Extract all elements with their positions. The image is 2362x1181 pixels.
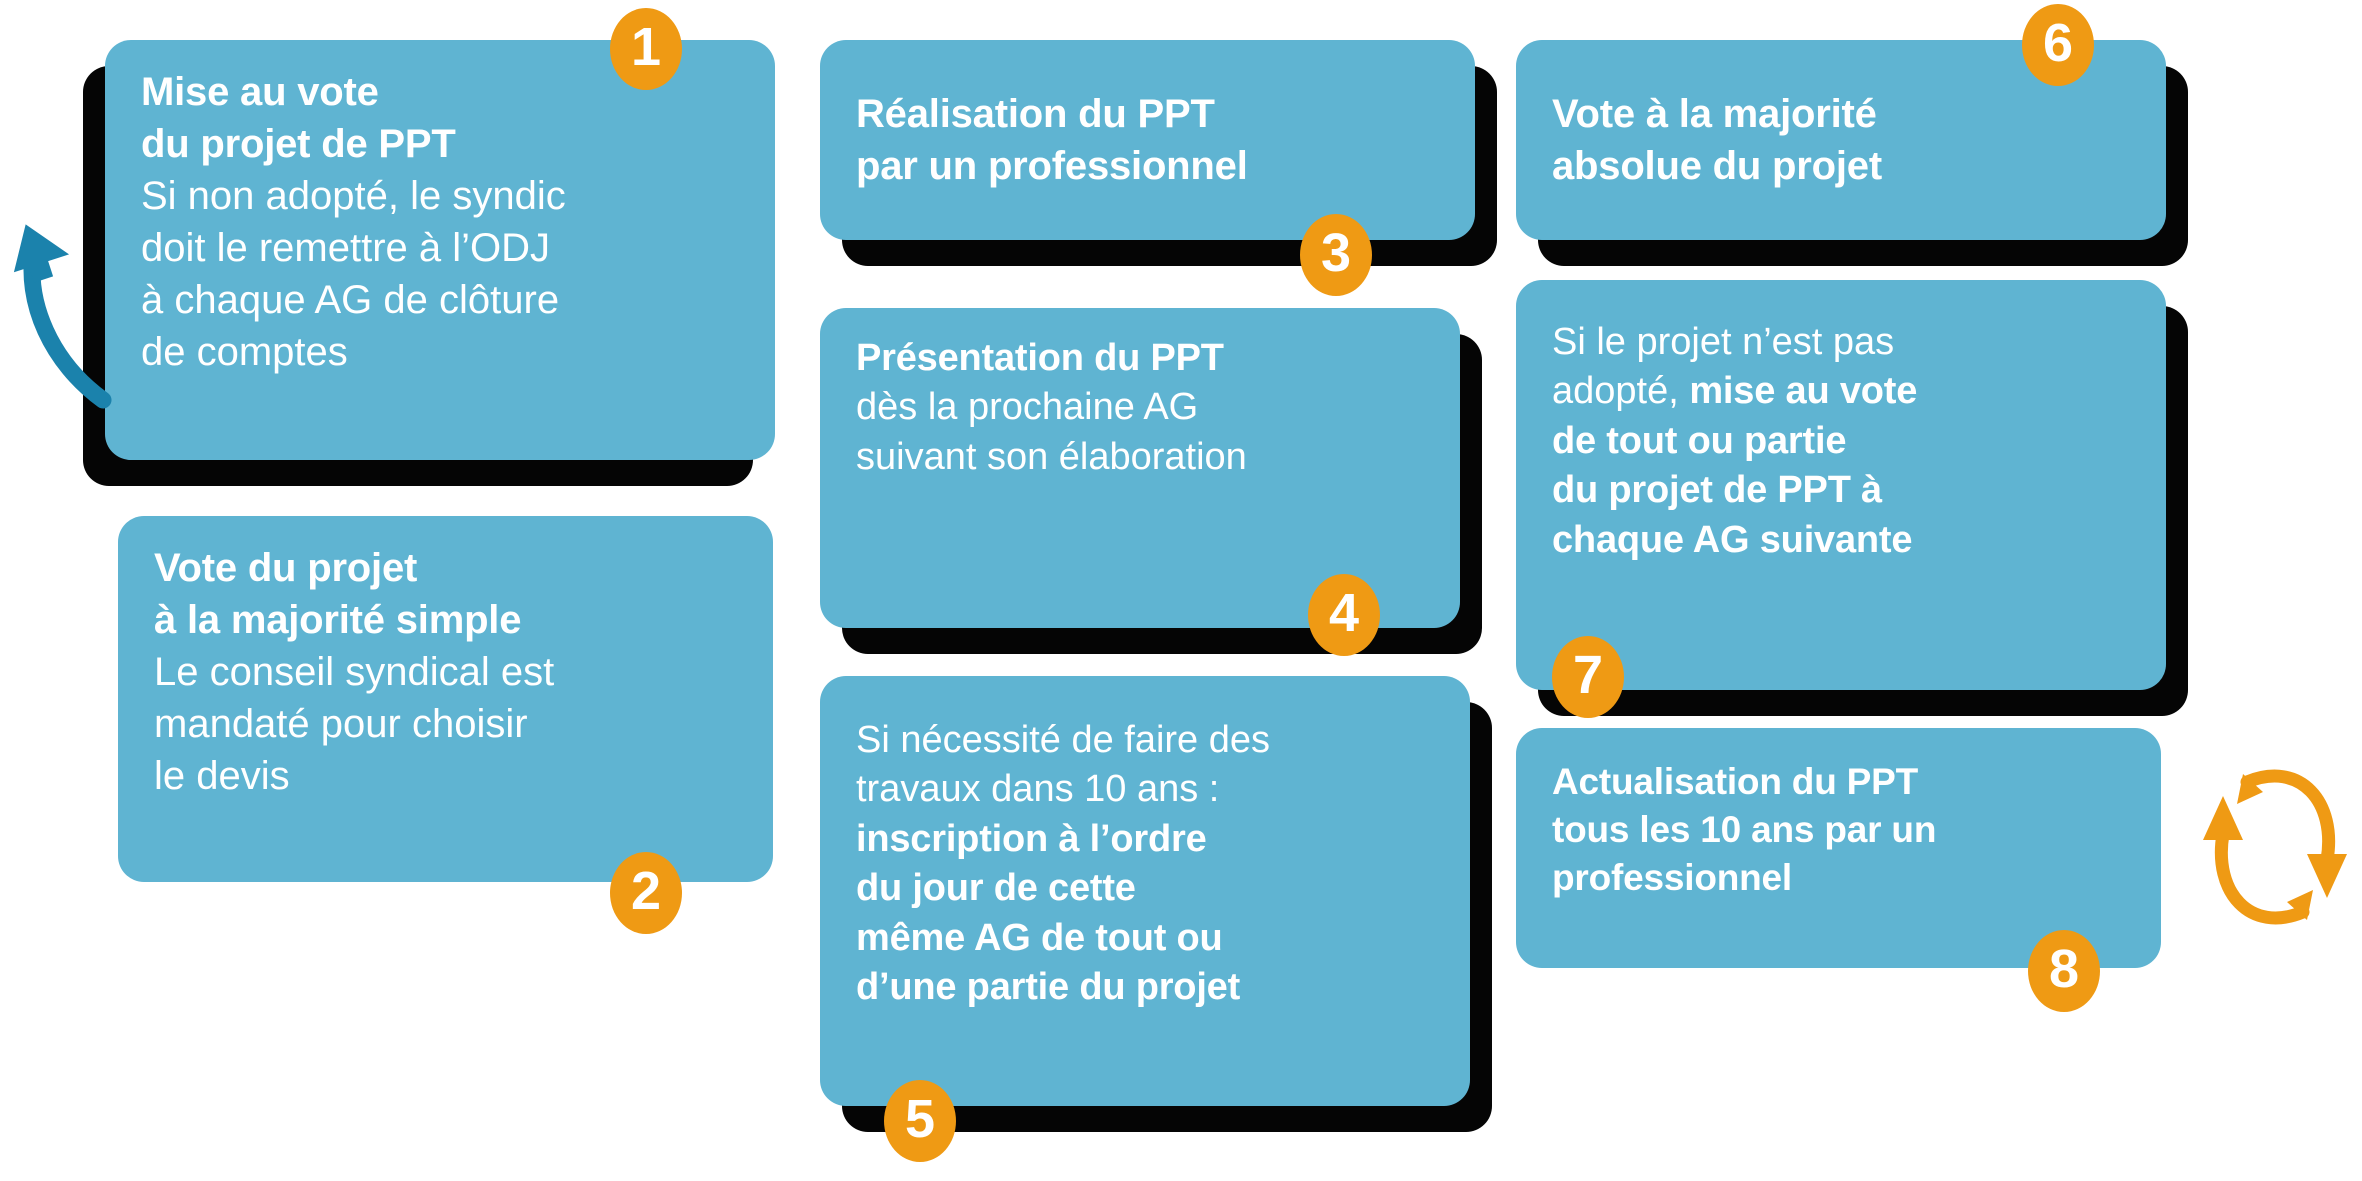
step-card-1[interactable]: Mise au vote du projet de PPT Si non ado… [105, 40, 775, 460]
step-badge-2-number: 2 [631, 864, 661, 918]
step-2-bold-line-2: à la majorité simple [154, 594, 739, 646]
cycle-arrows-icon [2195, 752, 2355, 942]
step-8-bold-line-3: professionnel [1552, 854, 2127, 902]
step-7-line-2: adopté, mise au vote [1552, 367, 2132, 416]
step-badge-3-number: 3 [1321, 226, 1351, 280]
step-5-line-3: inscription à l’ordre [856, 815, 1436, 864]
step-7-line-4: du projet de PPT à [1552, 466, 2132, 515]
ppt-process-diagram: Mise au vote du projet de PPT Si non ado… [0, 0, 2362, 1181]
step-1-text-line-1: Si non adopté, le syndic [141, 170, 741, 222]
step-2-bold-line-1: Vote du projet [154, 542, 739, 594]
step-badge-6: 6 [2022, 4, 2094, 86]
step-badge-7: 7 [1552, 636, 1624, 718]
step-card-2[interactable]: Vote du projet à la majorité simple Le c… [118, 516, 773, 882]
step-5-line-4: du jour de cette [856, 864, 1436, 913]
step-badge-6-number: 6 [2043, 16, 2073, 70]
step-8-bold-line-2: tous les 10 ans par un [1552, 806, 2127, 854]
step-1-bold-line-2: du projet de PPT [141, 118, 741, 170]
step-4-bold-line-1: Présentation du PPT [856, 334, 1426, 383]
step-7-line-5: chaque AG suivante [1552, 516, 2132, 565]
step-7-line-2-bold: mise au vote [1689, 370, 1917, 412]
step-badge-1: 1 [610, 8, 682, 90]
step-6-bold-line-2: absolue du projet [1552, 140, 2132, 192]
step-card-3[interactable]: Réalisation du PPT par un professionnel [820, 40, 1475, 240]
step-1-text-line-3: à chaque AG de clôture [141, 274, 741, 326]
step-2-text-line-1: Le conseil syndical est [154, 646, 739, 698]
step-7-line-2-regular: adopté, [1552, 370, 1689, 412]
step-badge-2: 2 [610, 852, 682, 934]
step-7-line-3: de tout ou partie [1552, 417, 2132, 466]
step-4-text-line-2: suivant son élaboration [856, 433, 1426, 482]
step-6-bold-line-1: Vote à la majorité [1552, 88, 2132, 140]
step-4-text-line-1: dès la prochaine AG [856, 383, 1426, 432]
step-1-text-line-2: doit le remettre à l’ODJ [141, 222, 741, 274]
step-3-bold-line-1: Réalisation du PPT [856, 88, 1441, 140]
step-badge-4: 4 [1308, 574, 1380, 656]
step-badge-8: 8 [2028, 930, 2100, 1012]
step-3-bold-line-2: par un professionnel [856, 140, 1441, 192]
step-badge-8-number: 8 [2049, 942, 2079, 996]
step-badge-7-number: 7 [1573, 648, 1603, 702]
step-5-line-5: même AG de tout ou [856, 914, 1436, 963]
step-card-7[interactable]: Si le projet n’est pas adopté, mise au v… [1516, 280, 2166, 690]
step-2-text-line-2: mandaté pour choisir [154, 698, 739, 750]
step-badge-3: 3 [1300, 214, 1372, 296]
step-badge-1-number: 1 [631, 20, 661, 74]
step-badge-4-number: 4 [1329, 586, 1359, 640]
step-7-line-1: Si le projet n’est pas [1552, 318, 2132, 367]
step-badge-5: 5 [884, 1080, 956, 1162]
curved-up-arrow-icon [0, 95, 120, 425]
step-5-line-1: Si nécessité de faire des [856, 716, 1436, 765]
step-card-5[interactable]: Si nécessité de faire des travaux dans 1… [820, 676, 1470, 1106]
step-2-text-line-3: le devis [154, 750, 739, 802]
step-badge-5-number: 5 [905, 1092, 935, 1146]
step-5-line-6: d’une partie du projet [856, 963, 1436, 1012]
step-5-line-2: travaux dans 10 ans : [856, 765, 1436, 814]
step-1-text-line-4: de comptes [141, 326, 741, 378]
step-8-bold-line-1: Actualisation du PPT [1552, 758, 2127, 806]
